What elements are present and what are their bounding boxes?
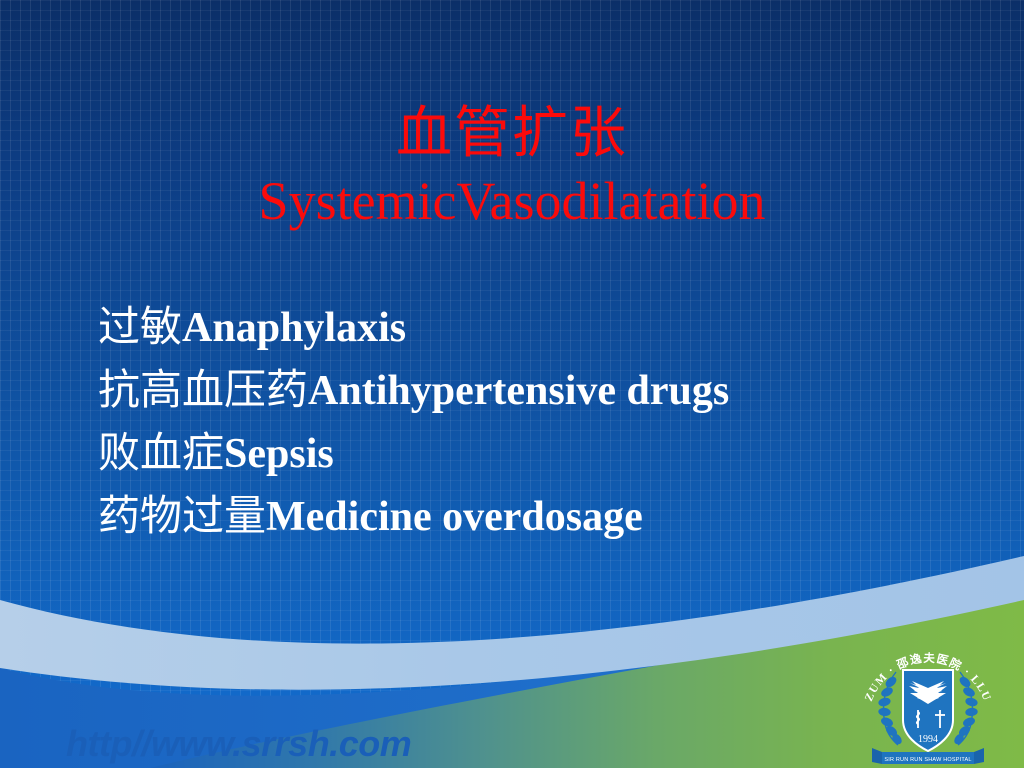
logo-banner-text: SIR RUN RUN SHAW HOSPITAL xyxy=(884,757,971,763)
list-item-english: Medicine overdosage xyxy=(266,494,643,540)
list-item: 药物过量Medicine overdosage xyxy=(98,485,998,548)
list-item-chinese: 败血症 xyxy=(98,428,224,477)
list-item: 过敏Anaphylaxis xyxy=(98,296,998,359)
list-item-english: Antihypertensive drugs xyxy=(308,368,729,414)
slide-body-list: 过敏Anaphylaxis 抗高血压药Antihypertensive drug… xyxy=(98,296,998,548)
shield-year-text: 1994 xyxy=(918,734,938,745)
list-item-chinese: 过敏 xyxy=(98,302,182,351)
presentation-slide: 血管扩张 SystemicVasodilatation 过敏Anaphylaxi… xyxy=(0,0,1024,768)
list-item-english: Sepsis xyxy=(224,431,334,477)
slide-title-block: 血管扩张 SystemicVasodilatation xyxy=(0,106,1024,228)
list-item-chinese: 抗高血压药 xyxy=(98,365,308,414)
list-item-english: Anaphylaxis xyxy=(182,305,406,351)
page-title-chinese: 血管扩张 xyxy=(0,106,1024,162)
list-item-chinese: 药物过量 xyxy=(98,491,266,540)
list-item: 败血症Sepsis xyxy=(98,422,998,485)
page-title-english: SystemicVasodilatation xyxy=(0,174,1024,228)
footer-website-url: http//www.srrsh.com xyxy=(66,723,411,765)
list-item: 抗高血压药Antihypertensive drugs xyxy=(98,359,998,422)
hospital-logo: ZUM · 邵逸夫医院 · LLU xyxy=(852,636,1004,768)
